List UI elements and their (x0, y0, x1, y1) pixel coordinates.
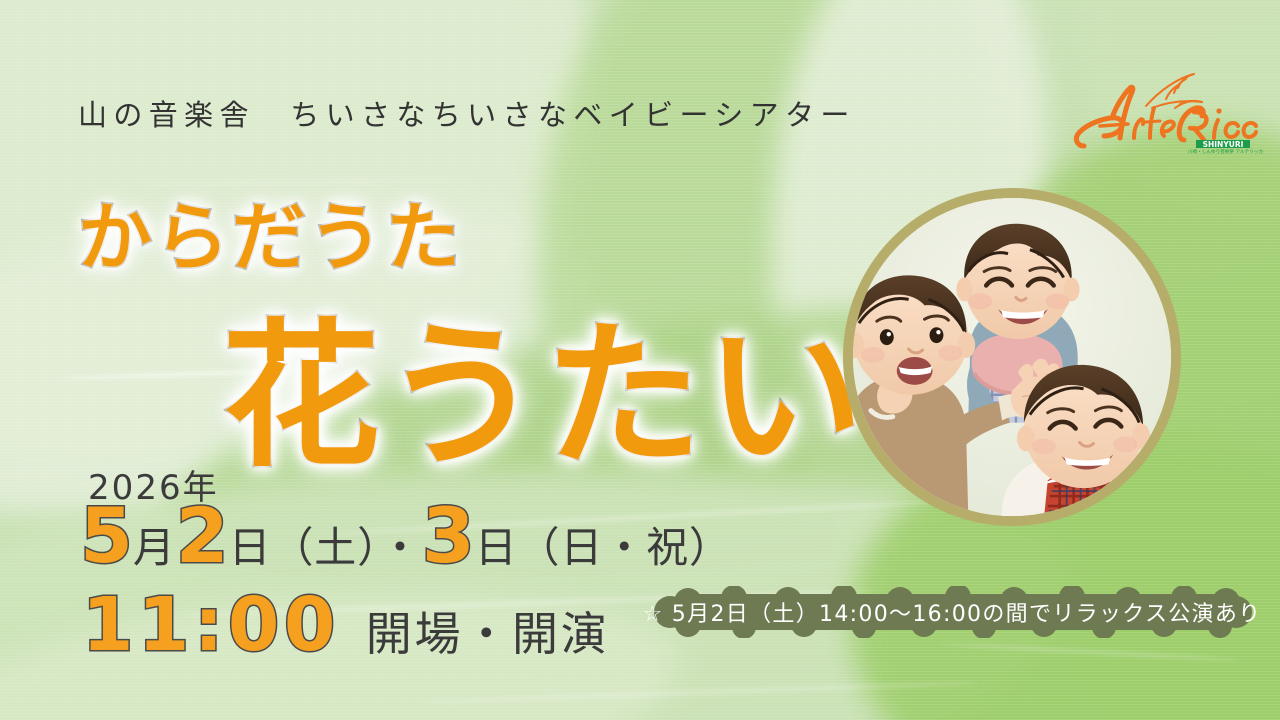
relax-banner-text: ☆ 5月2日（土）14:00〜16:00の間でリラックス公演あり (648, 586, 1256, 638)
day1-label: 日（土）・ (229, 527, 422, 569)
open-start-label: 開場・開演 (366, 611, 610, 657)
day2-label: 日（日・祝） (475, 527, 732, 569)
arte-ricca-logo: SHINYURI 川崎・しんゆり芸術祭 アルテリッカしんゆり (1068, 62, 1264, 154)
day1-number: 2 (176, 498, 229, 574)
babies-photo-frame (843, 188, 1181, 526)
relax-performance-banner: ☆ 5月2日（土）14:00〜16:00の間でリラックス公演あり (648, 586, 1256, 638)
day2-number: 3 (422, 498, 475, 574)
month-number: 5 (80, 498, 133, 574)
start-time: 11:00 (82, 588, 340, 662)
performance-time-line: 11:00 開場・開演 (82, 588, 610, 662)
logo-shinyuri-text: SHINYURI (1203, 140, 1244, 149)
babies-photo (853, 198, 1171, 516)
month-kanji: 月 (133, 527, 176, 569)
main-title-hanautai: 花うたい (222, 268, 867, 497)
company-and-series-line: 山の音楽舎 ちいさなちいさなベイビーシアター (78, 92, 856, 134)
poster-canvas: 山の音楽舎 ちいさなちいさなベイビーシアター (0, 0, 1280, 720)
performance-date-line: 5 月 2 日（土）・ 3 日（日・祝） (80, 498, 732, 574)
